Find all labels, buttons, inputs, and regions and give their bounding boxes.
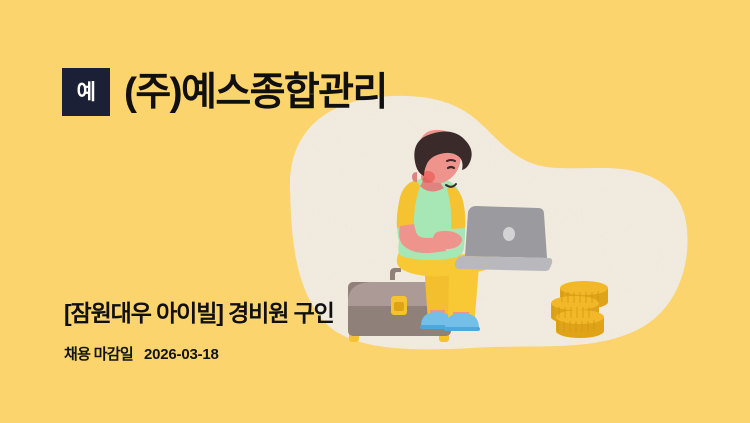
company-logo-badge: 예 — [62, 68, 110, 116]
company-name: (주)예스종합관리 — [124, 73, 387, 112]
figure-head — [412, 130, 472, 187]
laptop-icon — [455, 206, 552, 271]
company-header: 예 (주)예스종합관리 — [62, 68, 387, 116]
coin-stack-icon — [551, 281, 608, 338]
job-posting-banner: 예 (주)예스종합관리 [잠원대우 아이빌] 경비원 구인 채용 마감일 202… — [0, 0, 750, 423]
deadline-row: 채용 마감일 2026-03-18 — [64, 343, 334, 364]
job-title: [잠원대우 아이빌] 경비원 구인 — [64, 300, 334, 328]
company-logo-badge-text: 예 — [77, 82, 96, 103]
deadline-date: 2026-03-18 — [144, 346, 219, 363]
posting-info-block: [잠원대우 아이빌] 경비원 구인 채용 마감일 2026-03-18 — [64, 300, 334, 364]
deadline-label: 채용 마감일 — [64, 343, 133, 364]
